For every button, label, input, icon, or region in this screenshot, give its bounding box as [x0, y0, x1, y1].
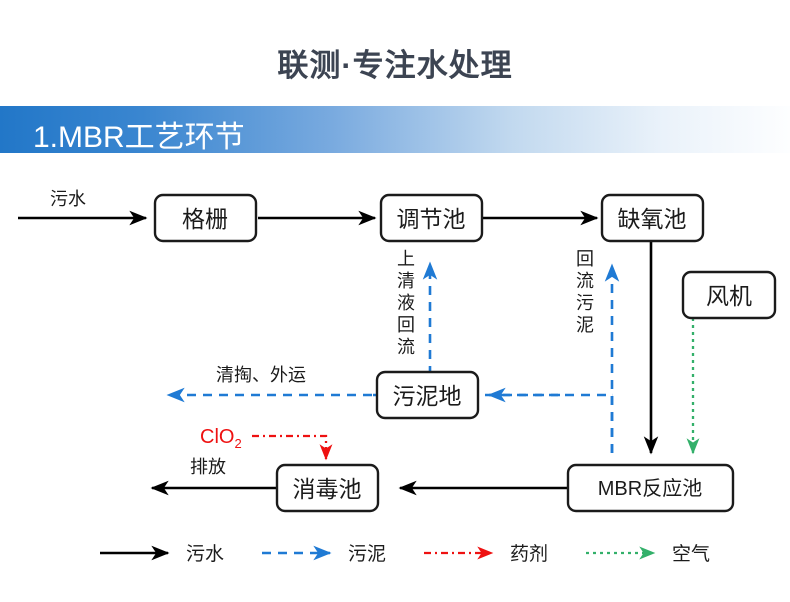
svg-text:流: 流	[576, 271, 594, 291]
node-grid[interactable]: 格栅	[155, 195, 256, 241]
legend-label-chemical: 药剂	[510, 543, 548, 565]
edge-label-sludge-return: 回 流 污 泥	[576, 249, 594, 335]
edge-label-dredge-transport: 清掏、外运	[216, 365, 306, 385]
legend-item-sludge: 污泥	[262, 543, 386, 565]
legend-item-air: 空气	[586, 543, 710, 565]
svg-text:回: 回	[397, 315, 415, 335]
svg-text:污: 污	[576, 293, 594, 313]
edge-chemical-dosing	[252, 436, 326, 459]
node-regulate[interactable]: 调节池	[381, 195, 482, 241]
legend-label-wastewater: 污水	[186, 543, 224, 565]
node-mbr-label: MBR反应池	[598, 477, 702, 500]
svg-text:流: 流	[397, 337, 415, 357]
node-blower-label: 风机	[706, 283, 752, 309]
slide-canvas: 联测·专注水处理 1.MBR工艺环节 污水	[0, 0, 790, 602]
edge-label-supernatant-return: 上 清 液 回 流	[397, 249, 415, 357]
node-blower[interactable]: 风机	[683, 272, 775, 318]
svg-text:上: 上	[397, 249, 415, 269]
legend-label-sludge: 污泥	[348, 543, 386, 565]
node-regulate-label: 调节池	[397, 206, 466, 232]
svg-text:清: 清	[397, 271, 415, 291]
legend-label-air: 空气	[672, 543, 710, 565]
node-sludge-bed[interactable]: 污泥地	[377, 372, 478, 418]
node-disinfect-label: 消毒池	[293, 476, 362, 502]
svg-text:液: 液	[397, 293, 415, 313]
section-header-label: 1.MBR工艺环节	[33, 112, 245, 156]
legend: 污水 污泥 药剂 空气	[100, 543, 710, 565]
node-mbr[interactable]: MBR反应池	[568, 465, 733, 511]
legend-item-wastewater: 污水	[100, 543, 224, 565]
edge-label-discharge: 排放	[190, 457, 226, 477]
svg-text:泥: 泥	[576, 315, 594, 335]
page-title: 联测·专注水处理	[0, 40, 790, 85]
node-disinfect[interactable]: 消毒池	[277, 465, 378, 511]
edge-label-chemical: ClO2	[200, 426, 242, 451]
legend-item-chemical: 药剂	[424, 543, 548, 565]
mbr-process-flow-diagram: 污水 排放 上 清 液 回 流 回 流 污 泥	[0, 153, 790, 602]
node-anoxic[interactable]: 缺氧池	[602, 195, 703, 241]
edge-label-influent: 污水	[50, 189, 86, 209]
svg-text:回: 回	[576, 249, 594, 269]
node-sludge-bed-label: 污泥地	[393, 383, 462, 409]
node-anoxic-label: 缺氧池	[618, 206, 687, 232]
node-grid-label: 格栅	[182, 206, 228, 232]
